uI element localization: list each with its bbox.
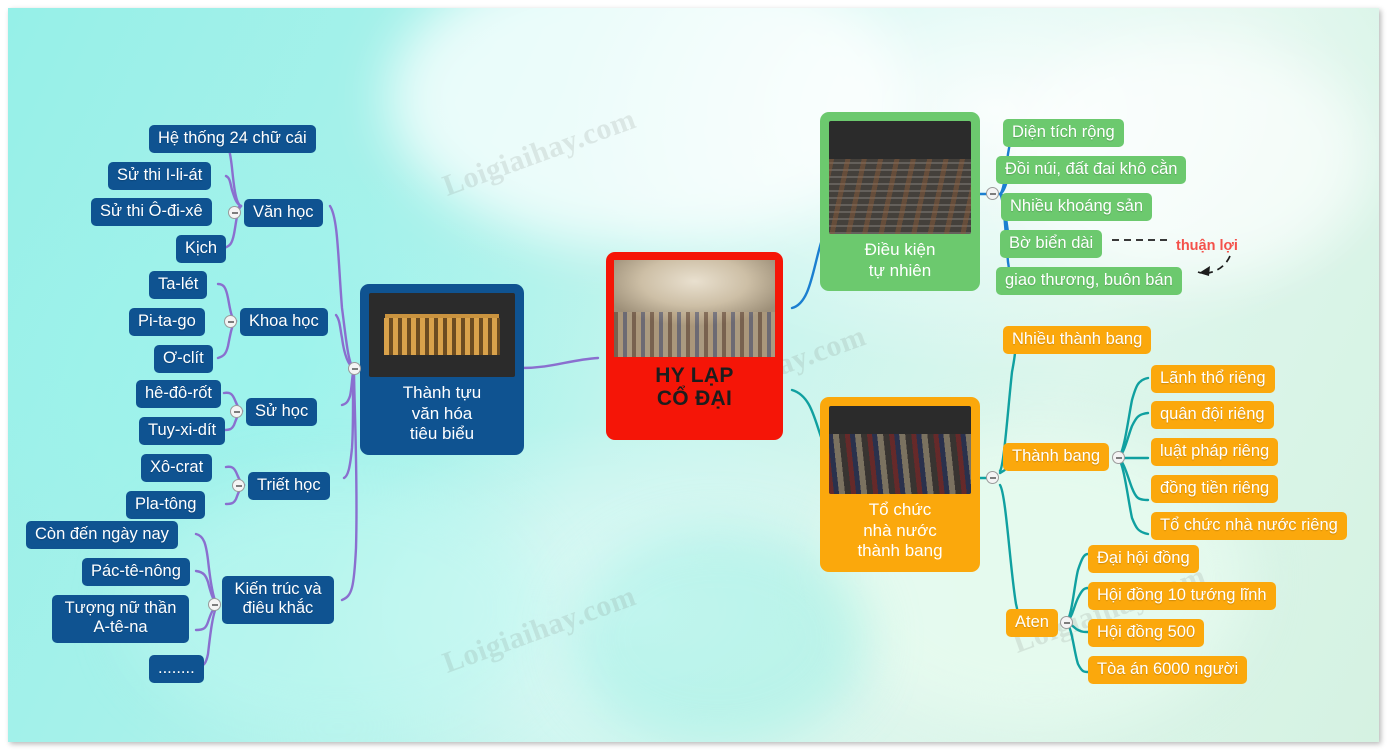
leaf-node-tuy-xi-dit[interactable]: Tuy-xi-dít bbox=[139, 417, 225, 445]
collapse-handle-triet-hoc[interactable] bbox=[232, 479, 245, 492]
center-node-hy-lap-co-dai[interactable]: HY LẠP CỔ ĐẠI bbox=[606, 252, 783, 440]
group-node-khoa-hoc[interactable]: Khoa học bbox=[240, 308, 328, 336]
leaf-node-lanh-tho-rieng[interactable]: Lãnh thổ riêng bbox=[1151, 365, 1275, 393]
leaf-node-luat-phap-rieng[interactable]: luật pháp riêng bbox=[1151, 438, 1278, 466]
collapse-handle-nature[interactable] bbox=[986, 187, 999, 200]
center-label-line2: CỔ ĐẠI bbox=[614, 387, 775, 410]
group-node-triet-hoc[interactable]: Triết học bbox=[248, 472, 330, 500]
branch-node-thanh-tuu-van-hoa[interactable]: Thành tựu văn hóa tiêu biểu bbox=[360, 284, 524, 455]
leaf-node-pla-tong[interactable]: Pla-tông bbox=[126, 491, 205, 519]
greek-assembly-image bbox=[829, 406, 971, 494]
branch-label-line2: tự nhiên bbox=[829, 261, 971, 282]
leaf-node-xo-crat[interactable]: Xô-crat bbox=[141, 454, 212, 482]
branch-label-line3: thành bang bbox=[829, 541, 971, 562]
group-node-van-hoc[interactable]: Văn học bbox=[244, 199, 323, 227]
group-node-aten[interactable]: Aten bbox=[1006, 609, 1058, 637]
collapse-handle-aten[interactable] bbox=[1060, 616, 1073, 629]
branch-label-line3: tiêu biểu bbox=[369, 424, 515, 445]
leaf-node-nhieu-thanh-bang[interactable]: Nhiều thành bang bbox=[1003, 326, 1151, 354]
leaf-node-he-do-rot[interactable]: hê-đô-rốt bbox=[136, 380, 221, 408]
group-label-line1: Kiến trúc và bbox=[231, 580, 325, 599]
leaf-node-toa-an-6000-nguoi[interactable]: Tòa án 6000 người bbox=[1088, 656, 1247, 684]
leaf-node-su-thi-o-di-xe[interactable]: Sử thi Ô-đi-xê bbox=[91, 198, 212, 226]
leaf-node-ellipsis[interactable]: ........ bbox=[149, 655, 204, 683]
group-node-su-hoc[interactable]: Sử học bbox=[246, 398, 317, 426]
annotation-thuan-loi: thuận lợi bbox=[1176, 238, 1238, 254]
arrow-head bbox=[1199, 266, 1210, 276]
leaf-node-quan-doi-rieng[interactable]: quân đội riêng bbox=[1151, 401, 1274, 429]
branch-node-dieu-kien-tu-nhien[interactable]: Điều kiện tự nhiên bbox=[820, 112, 980, 291]
leaf-node-hoi-dong-500[interactable]: Hội đồng 500 bbox=[1088, 619, 1204, 647]
leaf-node-con-den-ngay-nay[interactable]: Còn đến ngày nay bbox=[26, 521, 178, 549]
greek-harbour-image bbox=[829, 121, 971, 234]
leaf-node-o-clit[interactable]: Ơ-clít bbox=[154, 345, 213, 373]
parthenon-image bbox=[369, 293, 515, 377]
leaf-node-ta-let[interactable]: Ta-lét bbox=[149, 271, 207, 299]
branch-label-line1: Điều kiện bbox=[829, 240, 971, 261]
collapse-handle-khoa-hoc[interactable] bbox=[224, 315, 237, 328]
collapse-handle-van-hoc[interactable] bbox=[228, 206, 241, 219]
collapse-handle-thanh-bang[interactable] bbox=[1112, 451, 1125, 464]
mindmap-board: Loigiaihay.com Loigiaihay.com Loigiaihay… bbox=[8, 8, 1379, 742]
leaf-node-dien-tich-rong[interactable]: Diện tích rộng bbox=[1003, 119, 1124, 147]
branch-label-line2: nhà nước bbox=[829, 521, 971, 542]
center-label-line1: HY LẠP bbox=[614, 364, 775, 387]
leaf-node-kich[interactable]: Kịch bbox=[176, 235, 226, 263]
group-node-kien-truc-va-dieu-khac[interactable]: Kiến trúc và điêu khắc bbox=[222, 576, 334, 624]
branch-label-line1: Tổ chức bbox=[829, 500, 971, 521]
leaf-node-nhieu-khoang-san[interactable]: Nhiều khoáng sản bbox=[1001, 193, 1152, 221]
school-of-athens-image bbox=[614, 260, 775, 357]
collapse-handle-culture[interactable] bbox=[348, 362, 361, 375]
leaf-node-hoi-dong-10-tuong-linh[interactable]: Hội đồng 10 tướng lĩnh bbox=[1088, 582, 1276, 610]
leaf-label: Tượng nữ thần A-tê-na bbox=[65, 599, 177, 636]
collapse-handle-state[interactable] bbox=[986, 471, 999, 484]
leaf-node-tuong-nu-than-a-te-na[interactable]: Tượng nữ thần A-tê-na bbox=[52, 595, 189, 643]
leaf-node-giao-thuong-buon-ban[interactable]: giao thương, buôn bán bbox=[996, 267, 1182, 295]
branch-node-to-chuc-nha-nuoc-thanh-bang[interactable]: Tổ chức nhà nước thành bang bbox=[820, 397, 980, 572]
branch-label-line2: văn hóa bbox=[369, 404, 515, 425]
leaf-node-to-chuc-nha-nuoc-rieng[interactable]: Tổ chức nhà nước riêng bbox=[1151, 512, 1347, 540]
group-node-thanh-bang[interactable]: Thành bang bbox=[1003, 443, 1109, 471]
collapse-handle-su-hoc[interactable] bbox=[230, 405, 243, 418]
watermark: Loigiaihay.com bbox=[438, 102, 640, 203]
leaf-node-dai-hoi-dong[interactable]: Đại hội đồng bbox=[1088, 545, 1199, 573]
group-label-line2: điêu khắc bbox=[231, 599, 325, 618]
leaf-node-su-thi-i-li-at[interactable]: Sử thi I-li-át bbox=[108, 162, 211, 190]
leaf-node-pi-ta-go[interactable]: Pi-ta-go bbox=[129, 308, 205, 336]
leaf-node-pac-te-nong[interactable]: Pác-tê-nông bbox=[82, 558, 190, 586]
watermark: Loigiaihay.com bbox=[438, 579, 640, 680]
mindmap-canvas: Loigiaihay.com Loigiaihay.com Loigiaihay… bbox=[0, 0, 1387, 750]
branch-label-line1: Thành tựu bbox=[369, 383, 515, 404]
leaf-node-bo-bien-dai[interactable]: Bờ biển dài bbox=[1000, 230, 1102, 258]
collapse-handle-kien-truc[interactable] bbox=[208, 598, 221, 611]
leaf-node-he-thong-24-chu-cai[interactable]: Hệ thống 24 chữ cái bbox=[149, 125, 316, 153]
leaf-node-doi-nui-dat-dai-kho-can[interactable]: Đồi núi, đất đai khô cằn bbox=[996, 156, 1186, 184]
leaf-node-dong-tien-rieng[interactable]: đồng tiền riêng bbox=[1151, 475, 1278, 503]
